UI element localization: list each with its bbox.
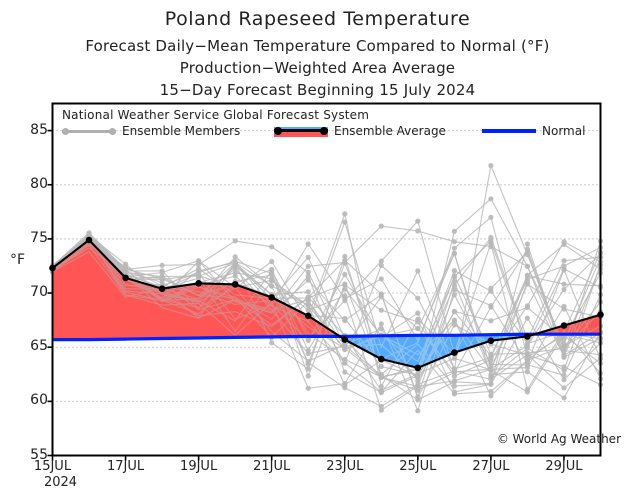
legend-label-normal: Normal xyxy=(542,124,585,138)
page-title: Poland Rapeseed Temperature xyxy=(0,8,635,30)
x-tick-label: 17JUL xyxy=(107,459,144,474)
legend-item-ensemble-members: Ensemble Members xyxy=(62,124,240,138)
x-tick-label: 25JUL xyxy=(399,459,436,474)
y-tick-label: 65 xyxy=(14,338,48,354)
x-tick-label: 23JUL xyxy=(326,459,363,474)
y-tick-label: 85 xyxy=(14,122,48,138)
y-tick-label: 80 xyxy=(14,176,48,192)
legend-source: National Weather Service Global Forecast… xyxy=(62,108,592,122)
x-axis-ticks: 15JUL202417JUL19JUL21JUL23JUL25JUL27JUL2… xyxy=(0,459,635,499)
legend-label-ensemble-members: Ensemble Members xyxy=(122,124,240,138)
chart-subtitle-3: 15−Day Forecast Beginning 15 July 2024 xyxy=(0,81,635,99)
copyright-notice: © World Ag Weather xyxy=(497,432,621,446)
legend-item-normal: Normal xyxy=(482,124,585,138)
x-tick-label: 27JUL xyxy=(472,459,509,474)
legend-item-ensemble-average: Ensemble Average xyxy=(274,124,446,138)
x-tick-label: 29JUL xyxy=(545,459,582,474)
red-blue-band-swatch-icon xyxy=(274,125,328,138)
x-axis-year-label: 2024 xyxy=(44,475,77,490)
chart-legend: National Weather Service Global Forecast… xyxy=(62,108,592,142)
y-tick-label: 75 xyxy=(14,230,48,246)
line-with-dots-swatch-icon xyxy=(62,125,116,137)
x-tick-label: 21JUL xyxy=(253,459,290,474)
y-axis-ticks: 55606570758085 xyxy=(8,0,48,498)
chart-page: Poland Rapeseed Temperature Forecast Dai… xyxy=(0,0,635,498)
y-tick-label: 70 xyxy=(14,284,48,300)
chart-subtitle-2: Production−Weighted Area Average xyxy=(0,59,635,77)
x-tick-label: 19JUL xyxy=(180,459,217,474)
y-tick-label: 60 xyxy=(14,392,48,408)
blue-line-swatch-icon xyxy=(482,125,536,137)
legend-row: Ensemble Members Ensemble Average Normal xyxy=(62,124,592,142)
chart-subtitle-1: Forecast Daily−Mean Temperature Compared… xyxy=(0,37,635,55)
chart-titles: Poland Rapeseed Temperature Forecast Dai… xyxy=(0,0,635,99)
x-tick-label: 15JUL xyxy=(34,459,71,474)
legend-label-ensemble-average: Ensemble Average xyxy=(334,124,446,138)
